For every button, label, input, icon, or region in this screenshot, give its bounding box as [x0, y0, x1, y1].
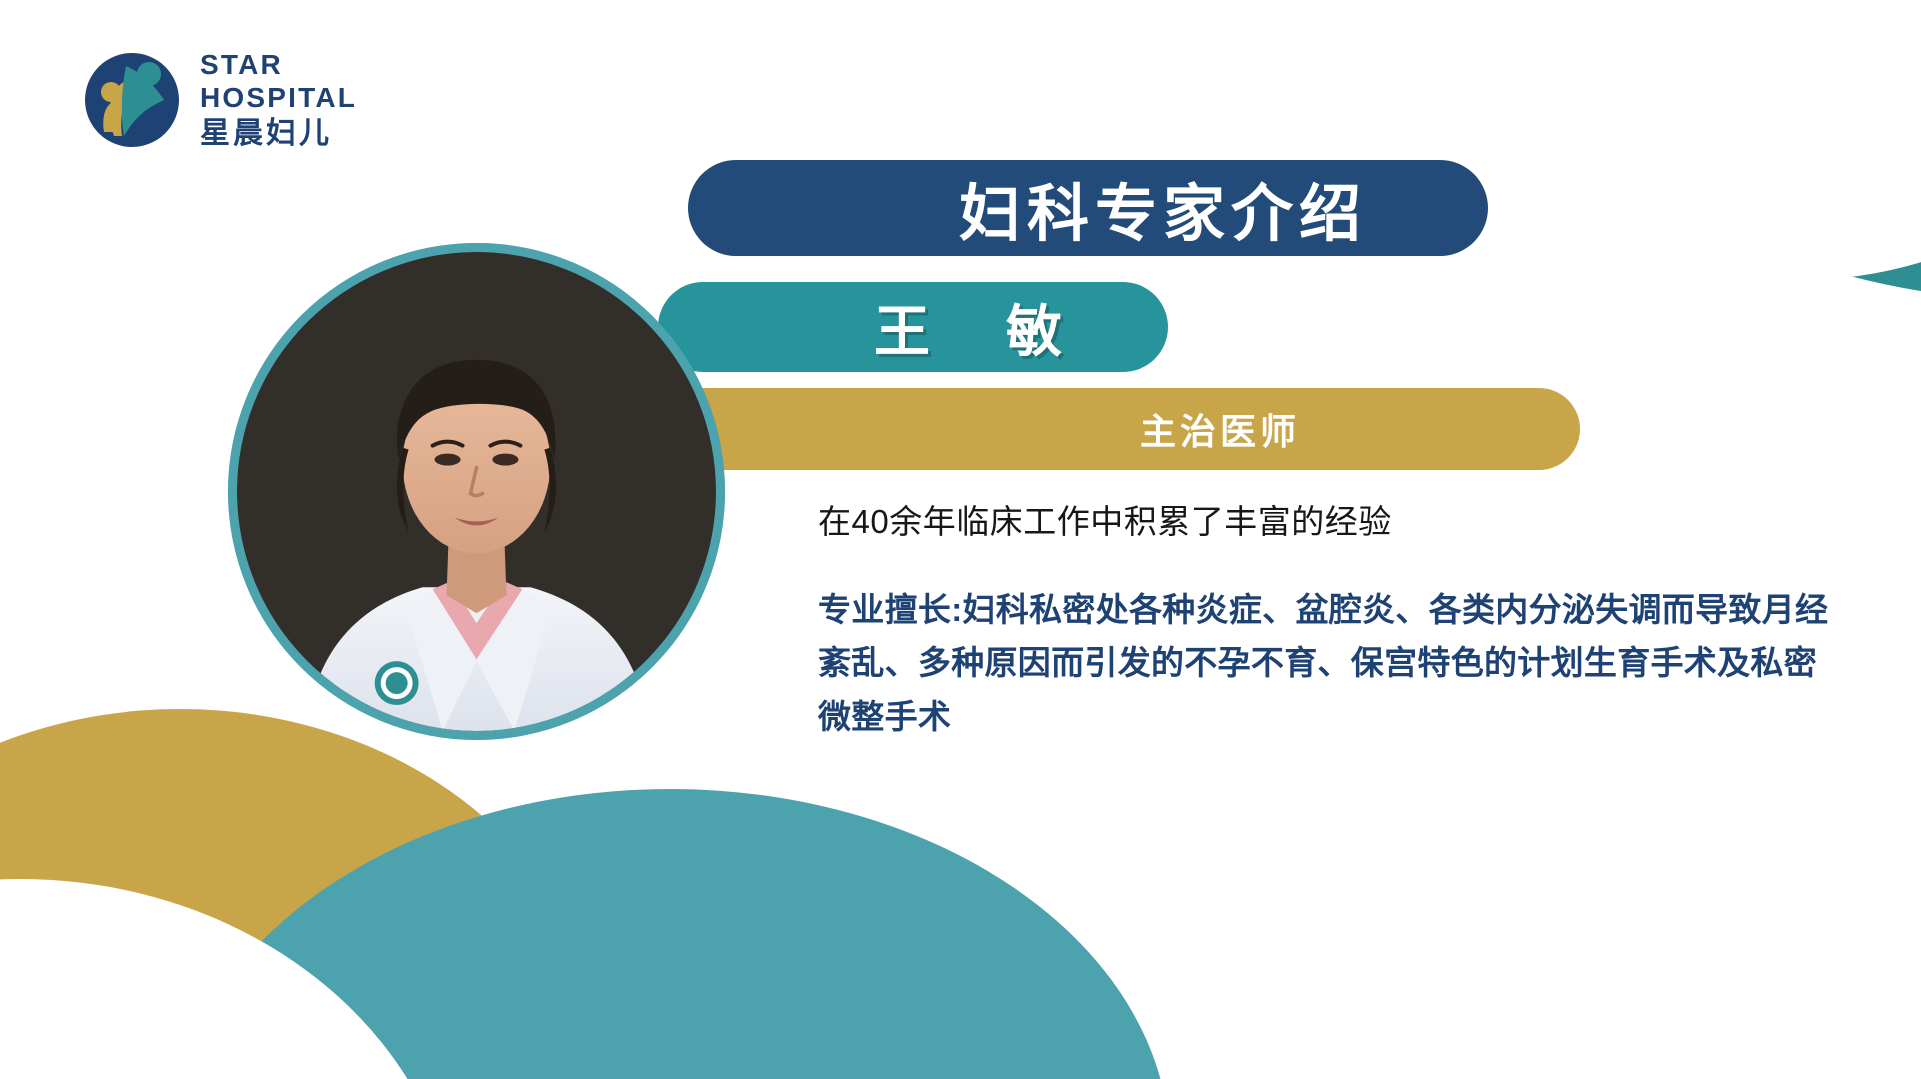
portrait-ring: [228, 243, 725, 740]
brand-name-en-line1: STAR: [200, 51, 357, 79]
brand-logo: STAR HOSPITAL 星晨妇儿: [78, 46, 357, 154]
doctor-name: 王 敏: [874, 287, 1072, 368]
decor-bottom-left-gold-circle: [0, 709, 600, 1079]
slide-canvas: STAR HOSPITAL 星晨妇儿: [0, 0, 1921, 1079]
brand-name-en-line2: HOSPITAL: [200, 84, 357, 112]
doctor-role: 主治医师: [1140, 403, 1300, 455]
decor-bottom-left-teal-circle: [170, 789, 1170, 1079]
brand-wordmark: STAR HOSPITAL 星晨妇儿: [200, 51, 357, 149]
bio-specialty-text: 妇科私密处各种炎症、盆腔炎、各类内分泌失调而导致月经紊乱、多种原因而引发的不孕不…: [818, 591, 1828, 735]
doctor-role-banner: 主治医师: [640, 388, 1580, 470]
decor-bottom-left-white-circle: [0, 879, 460, 1079]
doctor-portrait: [228, 243, 725, 740]
doctor-name-banner: 王 敏: [658, 282, 1168, 372]
bio-experience: 在40余年临床工作中积累了丰富的经验: [818, 505, 1838, 538]
brand-name-cn: 星晨妇儿: [200, 119, 357, 149]
bio-block: 在40余年临床工作中积累了丰富的经验 专业擅长:妇科私密处各种炎症、盆腔炎、各类…: [818, 505, 1838, 743]
section-title-banner: 妇科专家介绍: [688, 160, 1488, 256]
bio-specialty: 专业擅长:妇科私密处各种炎症、盆腔炎、各类内分泌失调而导致月经紊乱、多种原因而引…: [818, 583, 1838, 743]
decor-top-right-white-cut: [1421, 0, 1921, 280]
star-hospital-logo-icon: [78, 46, 186, 154]
bio-specialty-label: 专业擅长:: [818, 591, 963, 628]
page-title: 妇科专家介绍: [959, 163, 1367, 253]
